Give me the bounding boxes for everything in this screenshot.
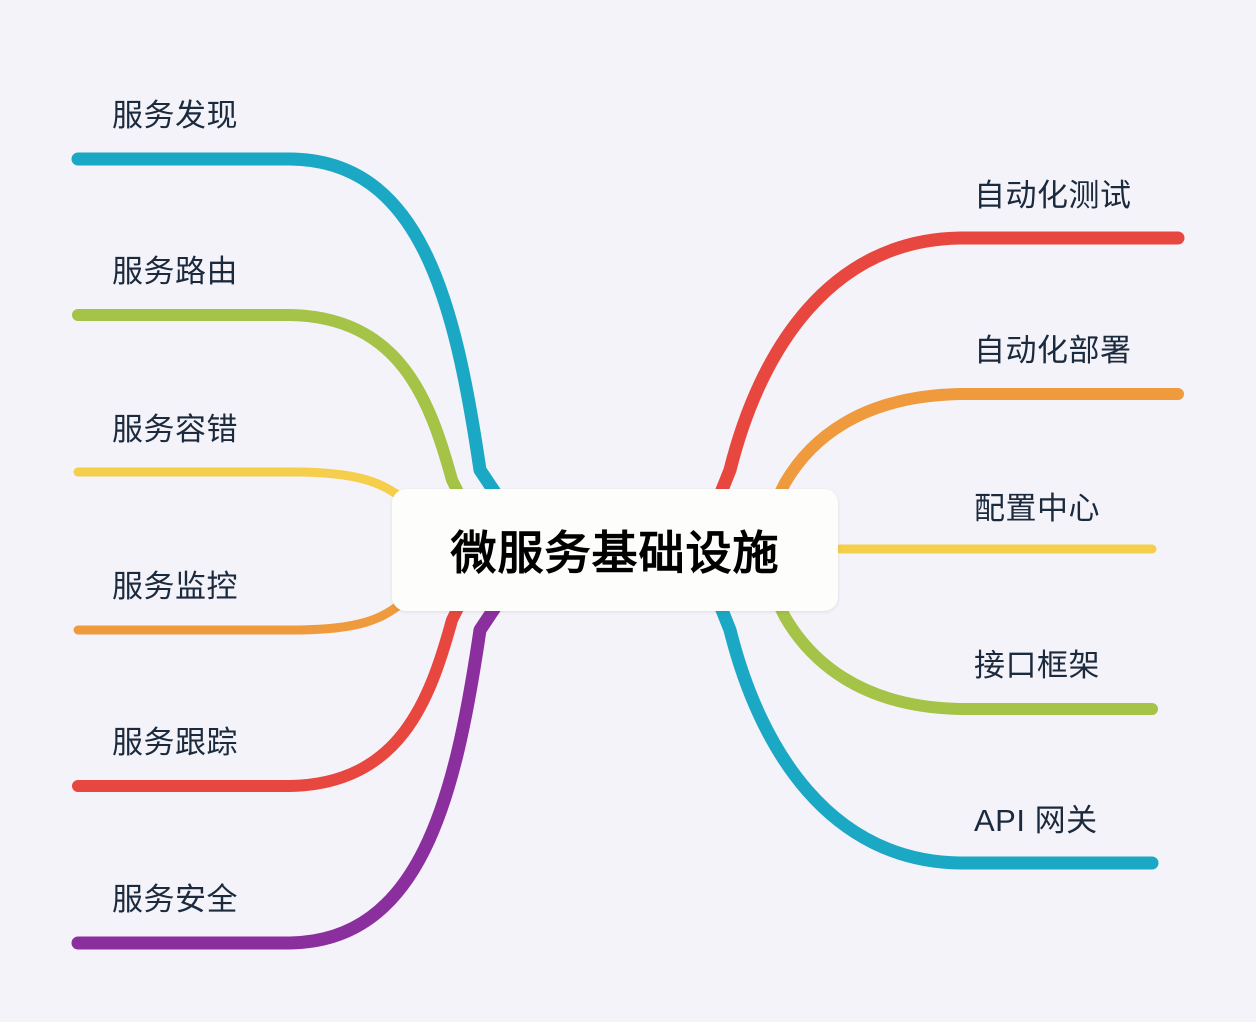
branch-left-2 [78, 472, 398, 495]
central-node-label: 微服务基础设施 [451, 517, 780, 583]
label-branch-left-3[interactable]: 服务监控 [112, 571, 238, 602]
label-branch-left-0[interactable]: 服务发现 [112, 100, 238, 131]
central-node[interactable]: 微服务基础设施 [392, 489, 838, 611]
label-branch-left-5[interactable]: 服务安全 [112, 884, 238, 915]
label-branch-right-0[interactable]: 自动化测试 [974, 180, 1132, 211]
branch-left-3 [78, 606, 398, 630]
branch-right-0 [718, 238, 1178, 500]
mind-map-canvas: 服务发现 服务路由 服务容错 服务监控 服务跟踪 服务安全 自动化测试 自动化部… [0, 0, 1256, 1022]
label-branch-left-4[interactable]: 服务跟踪 [112, 727, 238, 758]
branch-right-1 [776, 394, 1178, 501]
label-branch-right-3[interactable]: 接口框架 [974, 650, 1100, 681]
label-branch-right-1[interactable]: 自动化部署 [974, 335, 1132, 366]
label-branch-right-4[interactable]: API 网关 [974, 805, 1098, 836]
label-branch-right-2[interactable]: 配置中心 [974, 493, 1100, 524]
label-branch-left-1[interactable]: 服务路由 [112, 256, 238, 287]
label-branch-left-2[interactable]: 服务容错 [112, 414, 238, 445]
